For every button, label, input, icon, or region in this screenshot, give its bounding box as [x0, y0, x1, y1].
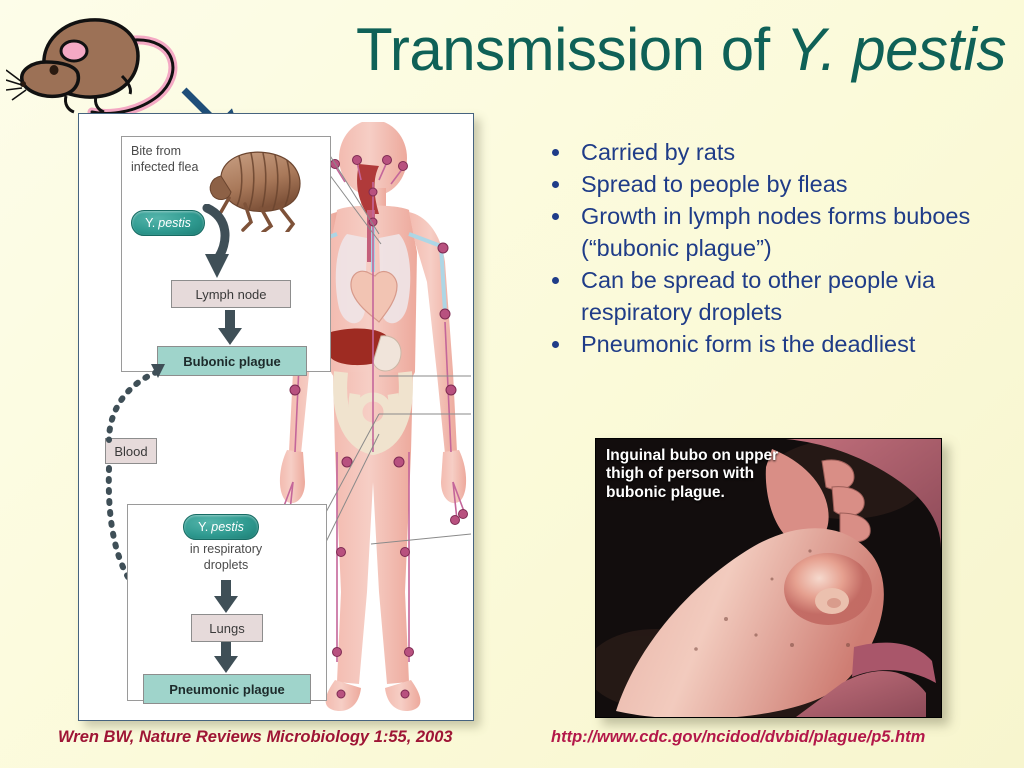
bullet-list-items: Carried by rats Spread to people by flea… — [545, 136, 1015, 360]
source-url[interactable]: http://www.cdc.gov/ncidod/dvbid/plague/p… — [551, 728, 925, 747]
transmission-diagram-panel: Bite from infected flea — [78, 113, 474, 721]
respiratory-droplets-caption: in respiratory droplets — [171, 542, 281, 574]
arrow-lymphnode-to-bubonic — [217, 310, 243, 346]
list-item: Can be spread to other people via respir… — [545, 264, 1015, 328]
list-item: Carried by rats — [545, 136, 1015, 168]
arrow-lungs-to-pneumonic — [213, 642, 239, 674]
arrow-flea-to-lymphnode — [189, 204, 249, 280]
bullet-list: Carried by rats Spread to people by flea… — [545, 136, 1015, 360]
photo-caption: Inguinal bubo on upper thigh of person w… — [606, 447, 831, 502]
arrow-droplets-to-lungs — [213, 580, 239, 614]
citation-text: Wren BW, Nature Reviews Microbiology 1:5… — [58, 728, 453, 747]
pneumonic-plague-box: Pneumonic plague — [143, 674, 311, 704]
page-title: Transmission of Y. pestis — [250, 18, 1006, 81]
rat-illustration — [6, 4, 186, 120]
lungs-box: Lungs — [191, 614, 263, 642]
list-item: Growth in lymph nodes forms buboes (“bub… — [545, 200, 1015, 264]
pathogen-pill-bottom: Y.pestis — [183, 514, 259, 540]
list-item: Pneumonic form is the deadliest — [545, 328, 1015, 360]
list-item: Spread to people by fleas — [545, 168, 1015, 200]
slide-canvas: Transmission of Y. pestis — [0, 0, 1024, 768]
title-species: Y. pestis — [786, 16, 1006, 83]
lymph-node-box: Lymph node — [171, 280, 291, 308]
bubo-clinical-photo: Inguinal bubo on upper thigh of person w… — [595, 438, 942, 718]
title-prefix: Transmission of — [356, 16, 786, 83]
